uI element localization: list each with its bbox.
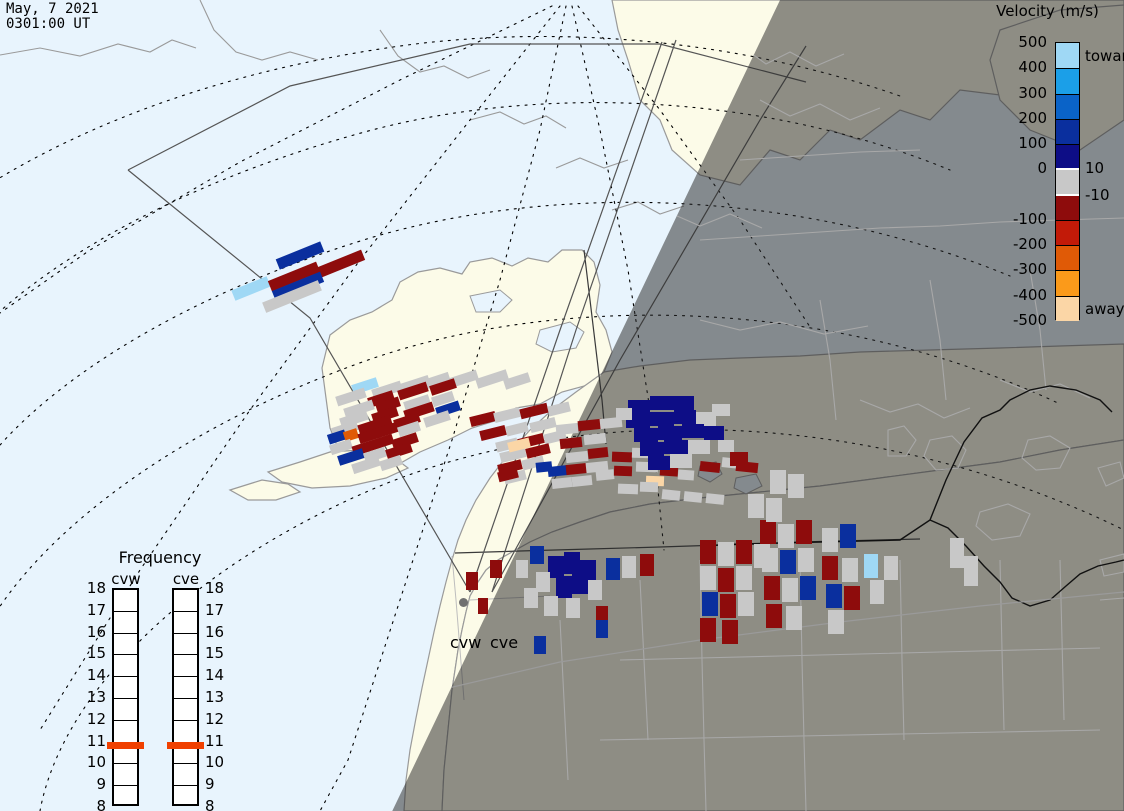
- colorbar-swatch: [1056, 220, 1079, 245]
- timestamp: May, 7 2021 0301:00 UT: [6, 2, 99, 31]
- colorbar-swatch: [1056, 195, 1079, 220]
- frequency-tick-line: [174, 720, 197, 721]
- frequency-tick-label: 17: [205, 601, 224, 619]
- frequency-tick-label: 11: [84, 732, 106, 750]
- colorbar-swatch: [1056, 119, 1079, 144]
- frequency-tick-label: 15: [205, 644, 224, 662]
- radar-site-marker: [459, 598, 468, 607]
- frequency-tick-line: [174, 633, 197, 634]
- frequency-tick-label: 9: [205, 775, 215, 793]
- frequency-tick-label: 9: [84, 775, 106, 793]
- colorbar-upper-threshold-label: 10: [1085, 159, 1104, 177]
- colorbar-tick-label: 0: [987, 159, 1047, 177]
- frequency-tick-label: 8: [84, 797, 106, 811]
- frequency-tick-label: 16: [84, 623, 106, 641]
- frequency-tick-label: 13: [84, 688, 106, 706]
- frequency-bar: [112, 588, 139, 806]
- frequency-tick-label: 14: [205, 666, 224, 684]
- colorbar-title: Velocity (m/s): [975, 2, 1120, 20]
- frequency-marker: [107, 742, 144, 749]
- frequency-tick-label: 18: [84, 579, 106, 597]
- colorbar-tick-label: 100: [987, 134, 1047, 152]
- radar-label-cve: cve: [490, 633, 518, 652]
- colorbar-strip: [1055, 42, 1080, 320]
- colorbar-swatch: [1056, 296, 1079, 321]
- colorbar-swatch: [1056, 169, 1079, 194]
- velocity-colorbar: Velocity (m/s) 5004003002001000-100-200-…: [975, 0, 1124, 340]
- frequency-tick-line: [174, 654, 197, 655]
- frequency-tick-line: [114, 785, 137, 786]
- frequency-tick-label: 13: [205, 688, 224, 706]
- frequency-tick-label: 17: [84, 601, 106, 619]
- colorbar-tick-label: 400: [987, 58, 1047, 76]
- frequency-marker: [167, 742, 204, 749]
- frequency-legend: Frequency cvw18171615141312111098cve1817…: [80, 548, 240, 788]
- frequency-tick-line: [114, 720, 137, 721]
- frequency-tick-line: [174, 611, 197, 612]
- colorbar-lower-threshold-label: -10: [1085, 186, 1110, 204]
- colorbar-tick-label: -500: [987, 311, 1047, 329]
- frequency-tick-label: 18: [205, 579, 224, 597]
- frequency-tick-label: 15: [84, 644, 106, 662]
- frequency-tick-line: [114, 633, 137, 634]
- frequency-tick-label: 16: [205, 623, 224, 641]
- frequency-tick-line: [114, 611, 137, 612]
- frequency-tick-line: [174, 676, 197, 677]
- colorbar-away-label: away: [1085, 300, 1124, 318]
- colorbar-swatch: [1056, 68, 1079, 93]
- frequency-tick-label: 10: [205, 753, 224, 771]
- colorbar-tick-label: -100: [987, 210, 1047, 228]
- frequency-tick-label: 8: [205, 797, 215, 811]
- frequency-tick-label: 14: [84, 666, 106, 684]
- frequency-tick-label: 12: [84, 710, 106, 728]
- frequency-bar: [172, 588, 199, 806]
- colorbar-tick-label: -300: [987, 260, 1047, 278]
- colorbar-tick-label: -400: [987, 286, 1047, 304]
- frequency-tick-line: [114, 676, 137, 677]
- frequency-tick-line: [114, 763, 137, 764]
- colorbar-center-divider: [1056, 194, 1079, 196]
- frequency-tick-label: 11: [205, 732, 224, 750]
- colorbar-tick-label: 300: [987, 84, 1047, 102]
- colorbar-swatch: [1056, 43, 1079, 68]
- fan-plot-screen: cvw cve May, 7 2021 0301:00 UT Velocity …: [0, 0, 1124, 811]
- radar-label-cvw: cvw: [450, 633, 481, 652]
- colorbar-center-divider: [1056, 168, 1079, 170]
- frequency-tick-line: [174, 785, 197, 786]
- colorbar-swatch: [1056, 245, 1079, 270]
- frequency-title: Frequency: [80, 548, 240, 567]
- colorbar-tick-label: 200: [987, 109, 1047, 127]
- colorbar-toward-label: toward: [1085, 47, 1124, 65]
- colorbar-tick-label: -200: [987, 235, 1047, 253]
- colorbar-swatch: [1056, 94, 1079, 119]
- colorbar-swatch: [1056, 144, 1079, 169]
- frequency-tick-label: 10: [84, 753, 106, 771]
- frequency-tick-line: [174, 763, 197, 764]
- colorbar-swatch: [1056, 270, 1079, 295]
- colorbar-tick-label: 500: [987, 33, 1047, 51]
- frequency-column-header: cvw: [99, 570, 153, 588]
- frequency-tick-label: 12: [205, 710, 224, 728]
- frequency-tick-line: [114, 698, 137, 699]
- frequency-tick-line: [174, 698, 197, 699]
- frequency-tick-line: [114, 654, 137, 655]
